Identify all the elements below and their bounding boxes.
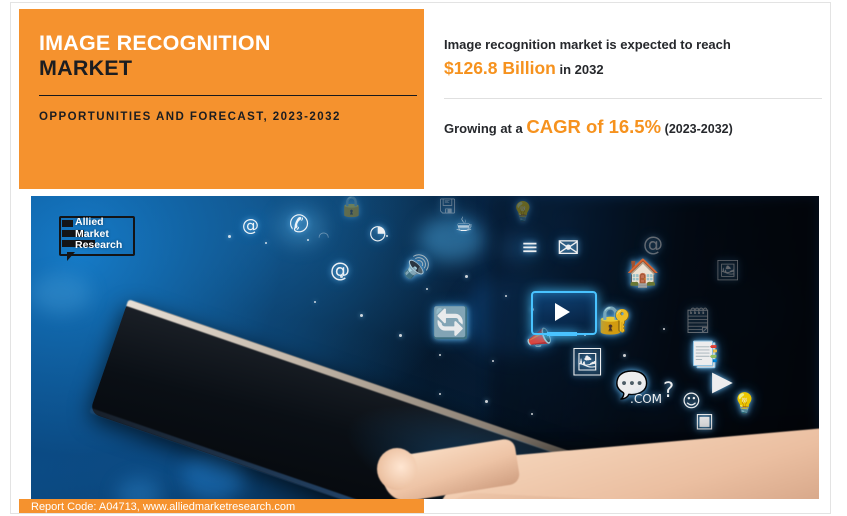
title-panel: IMAGE RECOGNITION MARKET OPPORTUNITIES A…: [19, 9, 424, 189]
sparkle-dot: [386, 235, 388, 237]
video-player-stand-icon: [547, 332, 577, 336]
cagr-prefix: Growing at a: [444, 121, 523, 136]
floating-icon: ◠: [318, 231, 329, 244]
floating-icon: 🔐: [598, 307, 632, 334]
sparkle-dot: [340, 275, 343, 278]
floating-icon: ▶: [712, 368, 733, 395]
footer-bar: Report Code: A04713, www.alliedmarketres…: [19, 499, 424, 514]
floating-icon: ≡: [521, 237, 539, 258]
market-size-suffix: in 2032: [559, 62, 603, 77]
report-subtitle: OPPORTUNITIES AND FORECAST, 2023-2032: [39, 109, 369, 127]
stats-panel: Image recognition market is expected to …: [424, 9, 824, 189]
sparkle-dot: [531, 413, 533, 415]
sparkle-dot: [360, 314, 363, 317]
floating-icon: 💡: [511, 203, 535, 222]
report-code-text: Report Code: A04713, www.alliedmarketres…: [31, 501, 295, 513]
stats-divider: [444, 98, 822, 99]
sparkle-dot: [663, 328, 665, 330]
sparkle-dot: [439, 354, 441, 356]
cagr-period: (2023-2032): [665, 122, 733, 136]
floating-icon: 🗒: [682, 308, 714, 333]
title-divider: [39, 95, 417, 96]
floating-icon: ☕: [455, 214, 473, 234]
sparkle-dot: [465, 275, 468, 278]
floating-icon: 🖼: [715, 260, 740, 280]
sparkle-dot: [492, 360, 494, 362]
logo-line-3: Research: [75, 240, 122, 252]
video-player-icon: [531, 291, 597, 335]
market-size-value: $126.8 Billion: [444, 58, 556, 78]
floating-icon: ▣: [695, 410, 714, 430]
logo-line-1: Allied: [75, 217, 122, 229]
cagr-value: CAGR of 16.5%: [526, 116, 661, 137]
footer-spacer: [424, 499, 824, 514]
title-line-secondary: MARKET: [39, 56, 400, 81]
report-cover-card: IMAGE RECOGNITION MARKET OPPORTUNITIES A…: [10, 2, 831, 514]
floating-icon: @: [242, 218, 259, 235]
floating-icon: 🏠: [626, 260, 660, 287]
allied-market-research-logo: Allied Market Research: [59, 216, 135, 262]
floating-icon: 📑: [689, 342, 720, 367]
floating-icon: 🖫: [439, 196, 456, 216]
sparkle-dot: [265, 242, 267, 244]
floating-icon: 🔒: [339, 196, 364, 216]
title-line-primary: IMAGE RECOGNITION: [39, 31, 400, 56]
sparkle-dot: [426, 288, 428, 290]
cagr-statement: Growing at a CAGR of 16.5% (2023-2032): [444, 116, 810, 138]
floating-icon: ◔: [369, 222, 386, 242]
floating-icon: 🖼: [570, 349, 604, 376]
sparkle-dot: [399, 334, 402, 337]
floating-icon: ?: [663, 380, 674, 401]
sparkle-dot: [623, 354, 626, 357]
floating-icon: 🔊: [403, 257, 430, 279]
floating-icon: ✆: [289, 212, 309, 236]
sparkle-dot: [228, 235, 231, 238]
page-title: IMAGE RECOGNITION MARKET: [39, 31, 400, 81]
floating-icon: 🔄: [432, 309, 469, 339]
market-size-statement: Image recognition market is expected to …: [444, 35, 810, 82]
floating-icon: @: [643, 234, 663, 254]
sparkle-dot: [485, 400, 488, 403]
sparkle-dot: [314, 301, 316, 303]
floating-icon: .COM: [630, 393, 662, 405]
sparkle-dot: [307, 239, 309, 241]
market-size-prefix: Image recognition market is expected to …: [444, 37, 731, 52]
fingertip: [377, 448, 417, 490]
floating-icon: 💡: [732, 393, 757, 413]
sparkle-dot: [505, 295, 507, 297]
hero-image: @✆◠◔☕🔒🖫💡≡✉@@🔊🏠🖼🔄🔐🗒📣🖼📑💬▶?☺💡▣.COM Allied M…: [31, 196, 819, 507]
cover-header: IMAGE RECOGNITION MARKET OPPORTUNITIES A…: [11, 3, 831, 189]
logo-wordmark: Allied Market Research: [75, 217, 122, 252]
sparkle-dot: [439, 393, 441, 395]
logo-bubble-tail-icon: [67, 252, 75, 261]
floating-icon: ✉: [557, 235, 580, 262]
logo-bar: [62, 220, 73, 227]
